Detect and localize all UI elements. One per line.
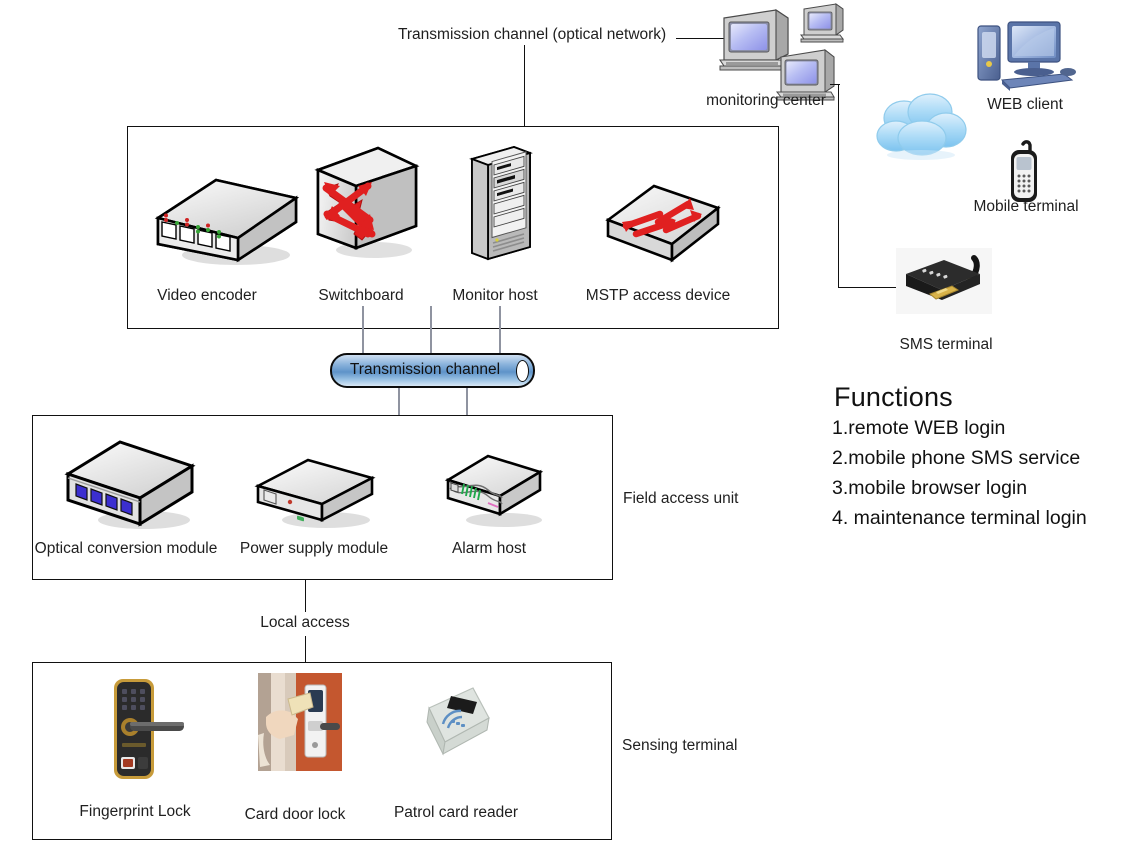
transmission-channel-label: Transmission channel [330, 361, 520, 379]
switchboard-label: Switchboard [318, 287, 403, 304]
connector-channel-to-field-1 [398, 388, 400, 416]
optical-module-icon [60, 432, 200, 532]
web-client-label: WEB client [987, 96, 1063, 113]
power-supply-icon-wrap [250, 452, 380, 532]
switchboard-icon [312, 142, 422, 262]
cloud-icon [874, 92, 970, 162]
mstp-access-device-label: MSTP access device [586, 287, 730, 304]
mstp-box-icon-wrap [602, 178, 724, 266]
monitor-host-label: Monitor host [452, 287, 537, 304]
connector-box-to-channel-3 [499, 306, 501, 356]
patrol-card-reader-photo-wrap [415, 680, 501, 764]
connector-box-to-channel-2 [430, 306, 432, 356]
functions-item-4: 4. maintenance terminal login [832, 507, 1087, 530]
functions-item-1: 1.remote WEB login [832, 417, 1005, 440]
sms-link-segment-3 [838, 287, 896, 288]
crt-computer-icon-2 [800, 2, 846, 44]
patrol-card-reader-photo [415, 680, 501, 764]
monitoring-center-label: monitoring center [706, 92, 826, 109]
power-supply-icon [250, 452, 380, 532]
optical-module-icon-wrap [60, 432, 200, 532]
card-door-lock-photo-wrap [258, 673, 342, 771]
local-access-line-bottom [305, 636, 306, 663]
sms-modem-icon-wrap [896, 248, 992, 314]
mobile-terminal-label: Mobile terminal [973, 198, 1078, 215]
video-encoder-icon [150, 160, 300, 270]
server-tower-icon [466, 143, 538, 263]
sensing-terminal-label: Sensing terminal [622, 737, 737, 754]
mstp-box-icon [602, 178, 724, 266]
alarm-host-icon [440, 450, 550, 532]
connector-channel-to-field-2 [466, 388, 468, 416]
mobile-phone-icon-wrap [1004, 140, 1046, 206]
connector-box-to-channel-1 [362, 306, 364, 356]
sms-terminal-label: SMS terminal [899, 336, 992, 353]
fingerprint-lock-photo [106, 675, 194, 785]
transmission-channel-cylinder: Transmission channel [330, 353, 535, 388]
fingerprint-lock-label: Fingerprint Lock [79, 803, 190, 820]
diagram-canvas: Transmission channel (optical network) [0, 0, 1133, 846]
desktop-pc-icon-wrap [972, 18, 1076, 96]
local-access-label: Local access [260, 614, 350, 631]
patrol-card-reader-label: Patrol card reader [394, 804, 518, 821]
fingerprint-lock-photo-wrap [106, 675, 194, 785]
mobile-phone-icon [1004, 140, 1046, 206]
alarm-host-icon-wrap [440, 450, 550, 532]
field-access-unit-label: Field access unit [623, 490, 738, 507]
leader-line-drop [524, 45, 525, 126]
card-door-lock-label: Card door lock [245, 806, 346, 823]
transmission-channel-optical-network-label: Transmission channel (optical network) [398, 26, 666, 43]
video-encoder-icon-wrap [150, 160, 300, 270]
desktop-pc-icon [972, 18, 1076, 96]
power-supply-module-label: Power supply module [240, 540, 388, 557]
cloud-icon-wrap [874, 92, 970, 162]
functions-item-3: 3.mobile browser login [832, 477, 1027, 500]
local-access-line-top [305, 580, 306, 612]
video-encoder-label: Video encoder [157, 287, 257, 304]
sms-modem-icon [896, 248, 992, 314]
server-tower-icon-wrap [466, 143, 538, 263]
switchboard-icon-wrap [312, 142, 422, 262]
crt-computer-icon-2-wrap [800, 2, 846, 44]
functions-item-2: 2.mobile phone SMS service [832, 447, 1080, 470]
card-door-lock-photo [258, 673, 342, 771]
alarm-host-label: Alarm host [452, 540, 526, 557]
optical-conversion-module-label: Optical conversion module [35, 540, 218, 557]
sms-link-segment-2 [838, 84, 839, 288]
functions-title: Functions [834, 382, 953, 413]
